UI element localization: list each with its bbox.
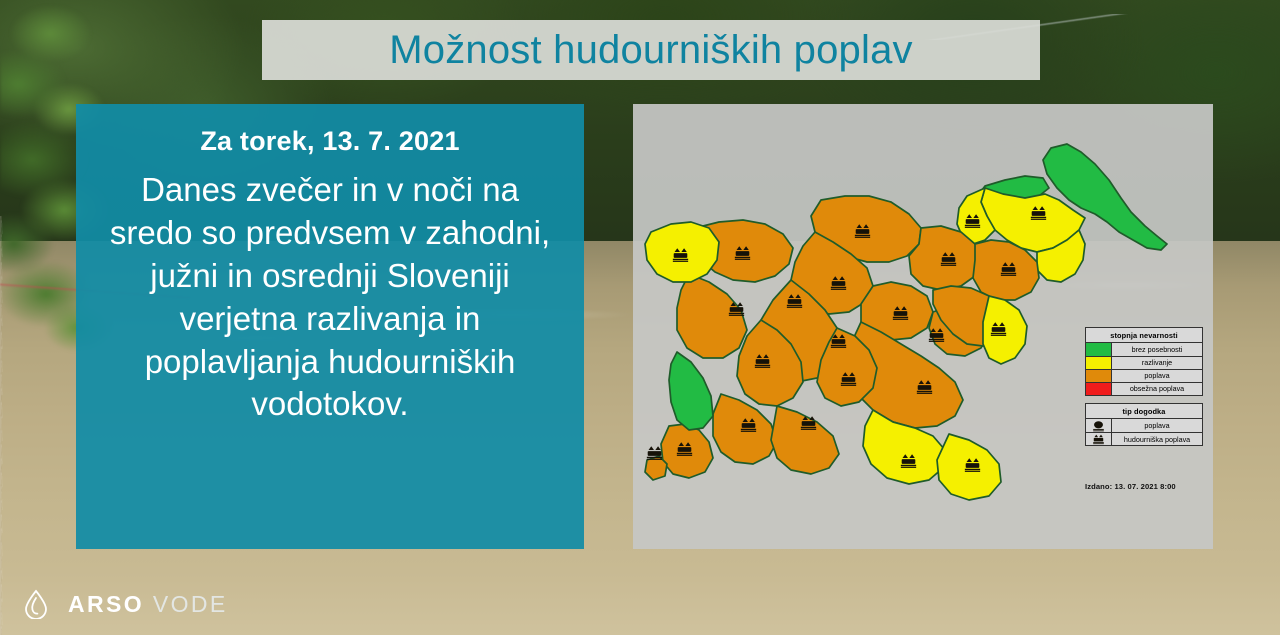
forecast-text-panel: Za torek, 13. 7. 2021 Danes zvečer in v … — [76, 104, 584, 549]
legend-row: obsežna poplava — [1086, 382, 1202, 395]
region-soca-upper — [645, 222, 719, 282]
legend-swatch-orange — [1086, 370, 1112, 382]
legend-label: obsežna poplava — [1112, 383, 1202, 395]
legend-swatch-red — [1086, 383, 1112, 395]
brand-wordmark: ARSO VODE — [68, 591, 228, 618]
legend-label: brez posebnosti — [1112, 343, 1202, 356]
forecast-body-text: Danes zvečer in v noči na sredo so predv… — [102, 169, 558, 426]
region-goriska — [669, 352, 713, 430]
legend-row: poplava — [1086, 419, 1202, 432]
title-banner: Možnost hudourniških poplav — [262, 20, 1040, 80]
legend-label: poplava — [1112, 370, 1202, 382]
brand-arso: ARSO — [68, 591, 144, 617]
legend-event-type: tip dogodka poplava hudourniška poplava — [1085, 403, 1203, 446]
brand-vode: VODE — [153, 591, 228, 617]
legend-severity-title: stopnja nevarnosti — [1086, 328, 1202, 343]
legend-row: poplava — [1086, 369, 1202, 382]
flood-icon — [1086, 419, 1112, 432]
legend-row: razlivanje — [1086, 356, 1202, 369]
legend-label: razlivanje — [1112, 357, 1202, 369]
torrential-flood-icon — [1086, 433, 1112, 445]
legend-severity: stopnja nevarnosti brez posebnosti razli… — [1085, 327, 1203, 396]
legend-row: brez posebnosti — [1086, 343, 1202, 356]
legend-swatch-yellow — [1086, 357, 1112, 369]
legend-row: hudourniška poplava — [1086, 432, 1202, 445]
forecast-date-heading: Za torek, 13. 7. 2021 — [102, 126, 558, 157]
legend-label: hudourniška poplava — [1112, 433, 1202, 445]
water-drop-icon — [22, 589, 50, 619]
legend-swatch-green — [1086, 343, 1112, 356]
map-panel: stopnja nevarnosti brez posebnosti razli… — [633, 104, 1213, 549]
legend-label: poplava — [1112, 419, 1202, 432]
footer-logo: ARSO VODE — [22, 589, 228, 619]
map-issued-timestamp: Izdano: 13. 07. 2021 8:00 — [1085, 482, 1176, 491]
map-legend: stopnja nevarnosti brez posebnosti razli… — [1085, 327, 1203, 446]
page-title: Možnost hudourniških poplav — [389, 28, 913, 73]
region-notranjska-south — [771, 406, 839, 474]
legend-event-type-title: tip dogodka — [1086, 404, 1202, 419]
region-primorska-inland — [677, 274, 747, 358]
